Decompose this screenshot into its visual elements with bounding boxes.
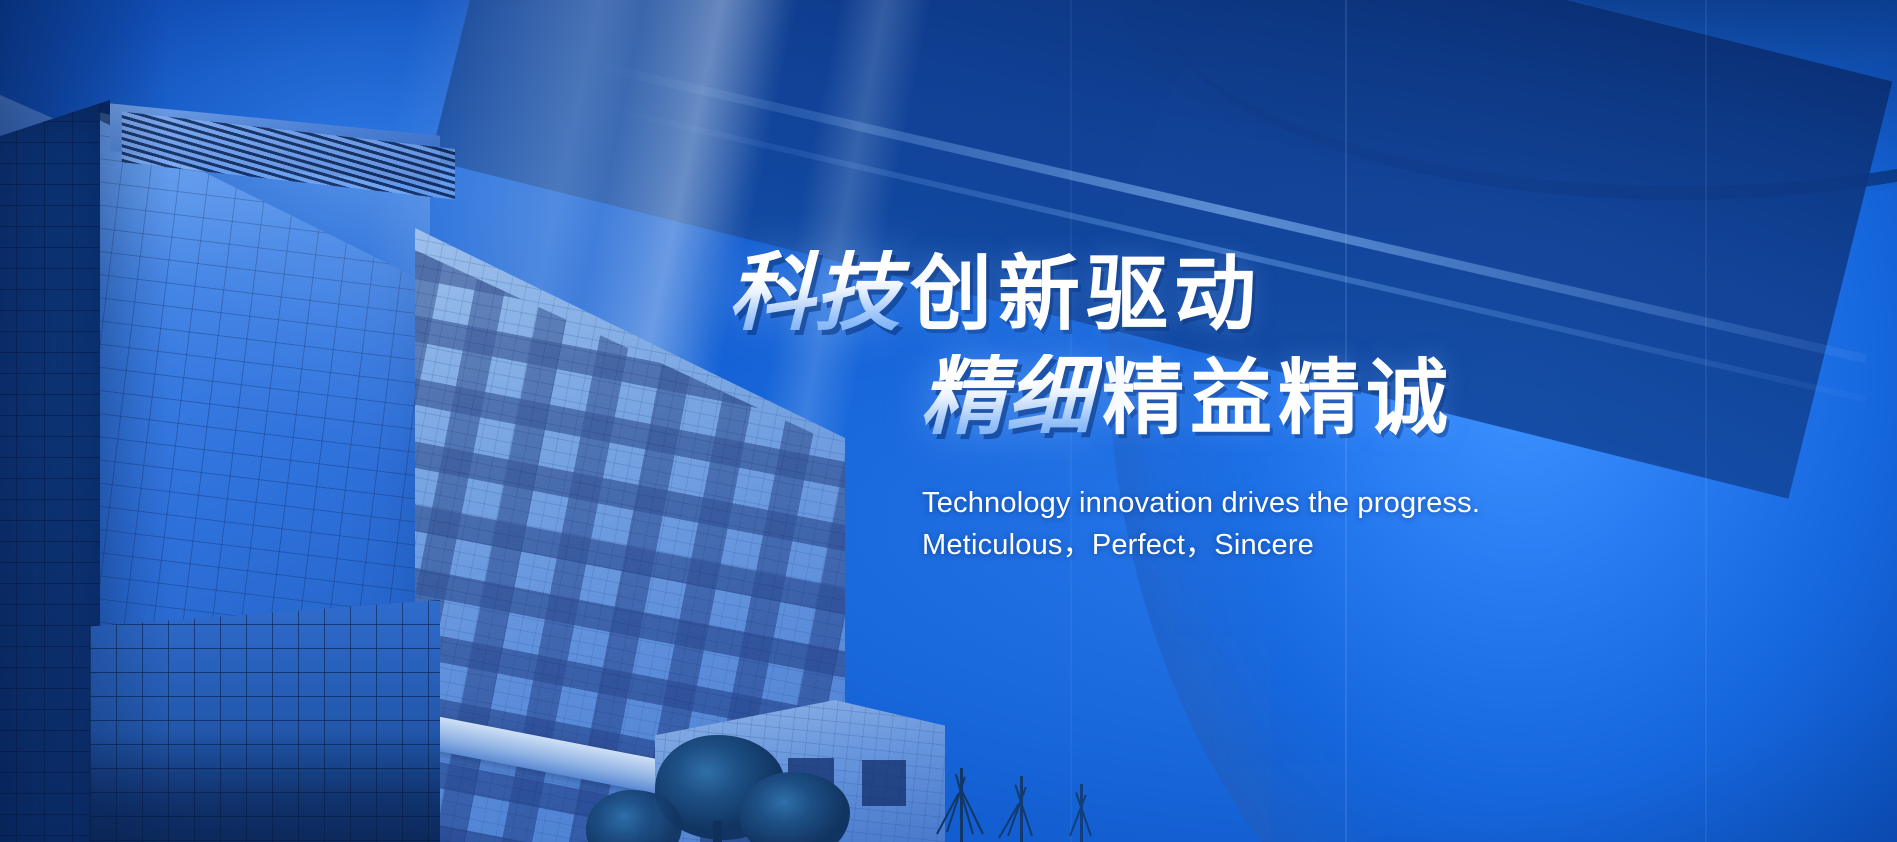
subtitle-line-1: Technology innovation drives the progres… — [922, 482, 1600, 524]
headline-line-1: 科技创新驱动 — [728, 250, 1600, 336]
headline-line-2-accent: 精细 — [920, 354, 1102, 440]
annex-window — [862, 760, 906, 806]
building-glass-city-reflection — [90, 730, 440, 842]
hero-copy: 科技创新驱动 精细精益精诚 Technology innovation driv… — [700, 250, 1600, 566]
tank-seam-b — [1705, 0, 1707, 842]
street-tree — [586, 790, 682, 842]
headline-line-2-plain: 精益精诚 — [1102, 358, 1454, 440]
subtitle-block: Technology innovation drives the progres… — [922, 482, 1600, 566]
headline-line-2: 精细精益精诚 — [920, 354, 1600, 440]
headline-line-1-accent: 科技 — [728, 250, 910, 336]
hero-banner: 科技创新驱动 精细精益精诚 Technology innovation driv… — [0, 0, 1897, 842]
headline-line-1-plain: 创新驱动 — [910, 254, 1262, 336]
subtitle-line-2: Meticulous，Perfect，Sincere — [922, 524, 1600, 566]
street-tree — [740, 772, 850, 842]
office-building — [0, 40, 820, 842]
